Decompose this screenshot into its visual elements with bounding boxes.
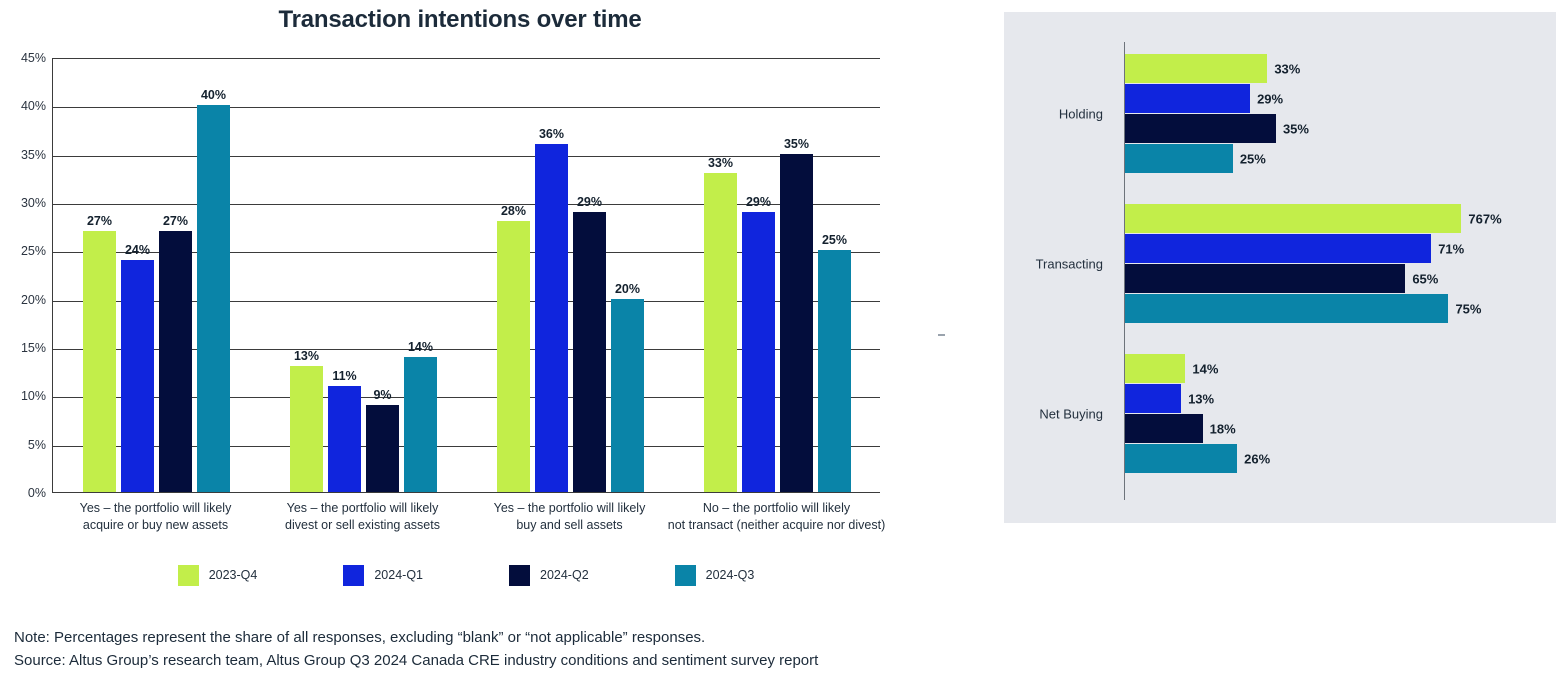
y-axis-tick-label: 40% [2,99,46,113]
bar-value-label: 24% [125,243,150,257]
bar-value-label: 29% [577,195,602,209]
bar-value-label: 14% [408,340,433,354]
y-axis-tick-label: 5% [2,438,46,452]
bar[interactable]: 28% [497,221,530,492]
horizontal-bar-value-label: 65% [1412,271,1438,286]
stray-tick-mark [938,334,945,336]
y-axis-tick-label: 30% [2,196,46,210]
horizontal-bar-value-label: 71% [1438,241,1464,256]
bar[interactable]: 27% [159,231,192,492]
bar-value-label: 9% [373,388,391,402]
bar-value-label: 13% [294,349,319,363]
horizontal-bar-value-label: 25% [1240,151,1266,166]
horizontal-bar-value-label: 18% [1210,421,1236,436]
horizontal-bar[interactable] [1125,264,1405,293]
x-axis-category-label: No – the portfolio will likelynot transa… [653,500,900,534]
bar[interactable]: 40% [197,105,230,492]
horizontal-bar[interactable] [1125,204,1461,233]
horizontal-bar[interactable] [1125,384,1181,413]
bar-group: 28%36%29%20% [467,59,674,492]
y-axis-tick-label: 10% [2,389,46,403]
bar-group: 33%29%35%25% [674,59,881,492]
legend-color-swatch [343,565,364,586]
legend-color-swatch [509,565,530,586]
bar[interactable]: 36% [535,144,568,492]
horizontal-bar-value-label: 14% [1192,361,1218,376]
horizontal-bar[interactable] [1125,234,1431,263]
legend-label: 2024-Q3 [706,568,755,582]
bar-value-label: 35% [784,137,809,151]
horizontal-bar[interactable] [1125,84,1250,113]
x-axis-category-labels: Yes – the portfolio will likelyacquire o… [52,500,880,544]
legend-item[interactable]: 2024-Q1 [343,562,423,588]
horizontal-bar-group-label: Holding [1059,107,1103,122]
horizontal-bar-value-label: 13% [1188,391,1214,406]
bar[interactable]: 27% [83,231,116,492]
y-axis-tick-label: 0% [2,486,46,500]
bar-value-label: 40% [201,88,226,102]
bar[interactable]: 14% [404,357,437,492]
horizontal-bar-value-label: 767% [1468,211,1501,226]
horizontal-bar-value-label: 29% [1257,91,1283,106]
bar[interactable]: 25% [818,250,851,492]
legend-label: 2023-Q4 [209,568,258,582]
y-axis-tick-label: 20% [2,293,46,307]
bar-value-label: 11% [332,369,356,383]
bar-value-label: 28% [501,204,526,218]
y-axis-tick-label: 15% [2,341,46,355]
y-axis-tick-label: 35% [2,148,46,162]
legend-item[interactable]: 2023-Q4 [178,562,258,588]
y-axis-tick-label: 25% [2,244,46,258]
chart-title: Transaction intentions over time [0,6,920,34]
legend-color-swatch [675,565,696,586]
bar[interactable]: 35% [780,154,813,492]
bar-value-label: 36% [539,127,564,141]
bars-layer: 27%24%27%40%13%11%9%14%28%36%29%20%33%29… [53,59,880,492]
bar-value-label: 25% [822,233,847,247]
x-axis-category-label-line: not transact (neither acquire nor divest… [653,517,900,534]
x-axis-category-label-line: No – the portfolio will likely [653,500,900,517]
chart-legend: 2023-Q42024-Q12024-Q22024-Q3 [52,562,880,588]
footnote-source: Source: Altus Group’s research team, Alt… [14,649,818,672]
bar[interactable]: 33% [704,173,737,492]
bar[interactable]: 11% [328,386,361,492]
bar-value-label: 33% [708,156,733,170]
bar-value-label: 29% [746,195,771,209]
legend-item[interactable]: 2024-Q2 [509,562,589,588]
horizontal-bar[interactable] [1125,444,1237,473]
horizontal-bar[interactable] [1125,54,1267,83]
bar[interactable]: 29% [742,212,775,492]
bar-value-label: 27% [87,214,112,228]
horizontal-bar-value-label: 33% [1274,61,1300,76]
horizontal-bar-value-label: 35% [1283,121,1309,136]
horizontal-bar-group-label: Net Buying [1039,407,1103,422]
bar-group: 27%24%27%40% [53,59,260,492]
horizontal-bar-value-label: 75% [1455,301,1481,316]
legend-item[interactable]: 2024-Q3 [675,562,755,588]
bar[interactable]: 9% [366,405,399,492]
horizontal-bar-group-label: Transacting [1036,257,1103,272]
plot-area: 27%24%27%40%13%11%9%14%28%36%29%20%33%29… [52,58,880,493]
bar-value-label: 27% [163,214,188,228]
bar[interactable]: 24% [121,260,154,492]
bar-value-label: 20% [615,282,640,296]
legend-color-swatch [178,565,199,586]
transaction-intentions-chart: Transaction intentions over time 0%5%10%… [0,0,960,610]
horizontal-bar-value-label: 26% [1244,451,1270,466]
horizontal-bar[interactable] [1125,354,1185,383]
bar[interactable]: 20% [611,299,644,492]
horizontal-bar[interactable] [1125,114,1276,143]
legend-label: 2024-Q1 [374,568,423,582]
footnotes: Note: Percentages represent the share of… [14,626,818,672]
horizontal-bar[interactable] [1125,414,1203,443]
summary-horizontal-bar-panel: Holding33%29%35%25%Transacting767%71%65%… [1004,12,1556,523]
bar[interactable]: 13% [290,366,323,492]
footnote-note: Note: Percentages represent the share of… [14,626,818,649]
legend-label: 2024-Q2 [540,568,589,582]
y-axis-tick-label: 45% [2,51,46,65]
horizontal-bar[interactable] [1125,294,1448,323]
bar-group: 13%11%9%14% [260,59,467,492]
y-axis-tick-labels: 0%5%10%15%20%25%30%35%40%45% [0,58,46,493]
horizontal-bar[interactable] [1125,144,1233,173]
bar[interactable]: 29% [573,212,606,492]
